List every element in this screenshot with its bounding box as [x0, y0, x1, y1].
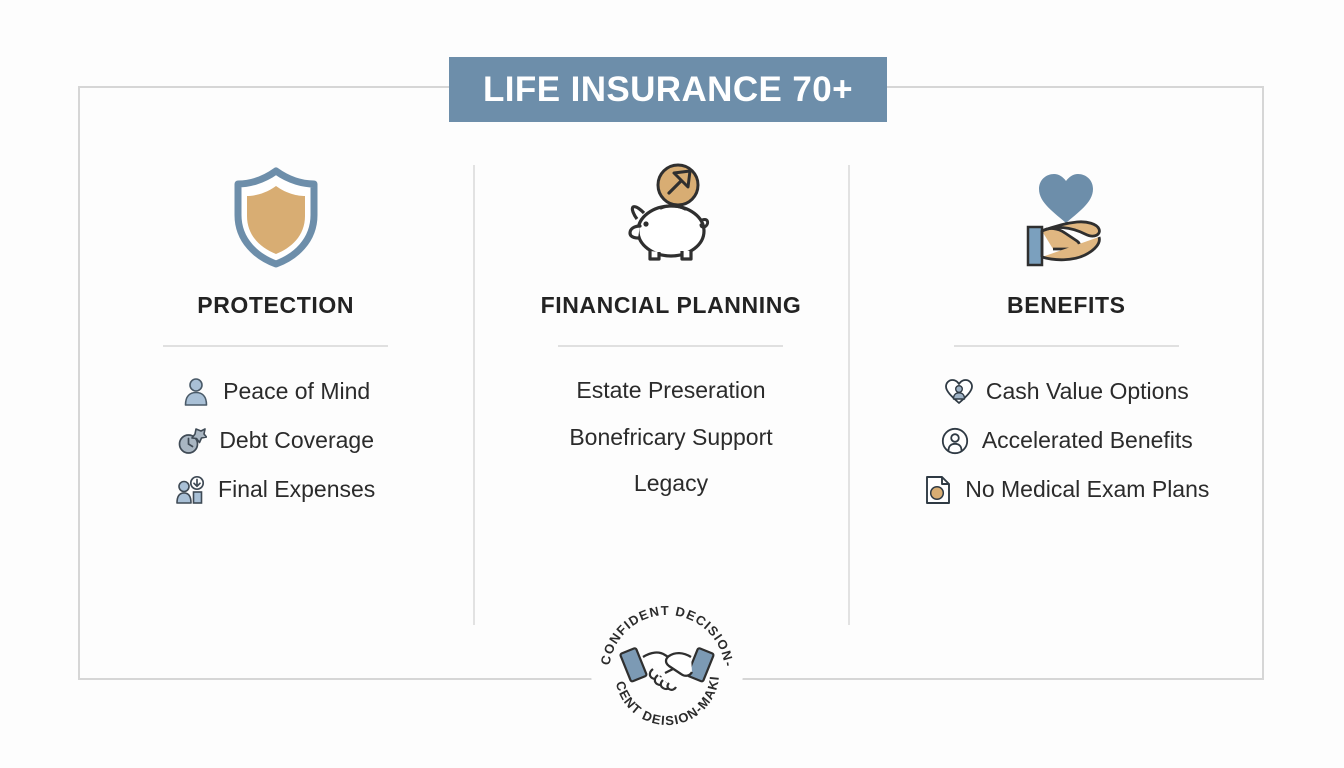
column-heading: BENEFITS: [1007, 292, 1126, 319]
list-item-label: Estate Preseration: [576, 377, 765, 405]
list-item: Cash Value Options: [944, 377, 1189, 407]
columns-container: PROTECTION Peace of Mind: [78, 150, 1264, 620]
user-circle-icon: [940, 426, 970, 456]
list-item: No Medical Exam Plans: [923, 475, 1209, 505]
column-heading: PROTECTION: [197, 292, 354, 319]
title-banner: LIFE INSURANCE 70+: [449, 57, 887, 122]
confidence-seal: CONFIDENT DECISION-MGNIKAM CENT DEISION-…: [591, 595, 743, 747]
feature-list: Cash Value Options Accelerated Benefits: [869, 377, 1264, 505]
person-icon: [181, 377, 211, 407]
clock-badge-icon: [177, 426, 207, 456]
list-item: Accelerated Benefits: [940, 426, 1193, 456]
list-item-label: Peace of Mind: [223, 378, 370, 406]
list-item-label: Bonefricary Support: [569, 424, 772, 452]
person-download-icon: [176, 475, 206, 505]
heading-rule: [954, 345, 1179, 347]
list-item: Estate Preseration: [576, 377, 765, 405]
list-item: Bonefricary Support: [569, 424, 772, 452]
list-item-label: Debt Coverage: [219, 427, 374, 455]
document-circle-icon: [923, 475, 953, 505]
shield-icon: [230, 162, 322, 272]
heading-rule: [558, 345, 783, 347]
list-item: Debt Coverage: [177, 426, 374, 456]
list-item-label: No Medical Exam Plans: [965, 476, 1209, 504]
infographic-poster: LIFE INSURANCE 70+ PROTECTION: [0, 0, 1344, 768]
list-item-label: Final Expenses: [218, 476, 375, 504]
page-title: LIFE INSURANCE 70+: [483, 70, 853, 110]
list-item: Legacy: [634, 470, 708, 498]
list-item-label: Legacy: [634, 470, 708, 498]
column-benefits: BENEFITS Cash Value Options: [869, 150, 1264, 620]
heading-rule: [163, 345, 388, 347]
column-financial-planning: FINANCIAL PLANNING Estate Preseration Bo…: [473, 150, 868, 620]
feature-list: Estate Preseration Bonefricary Support L…: [473, 377, 868, 498]
list-item: Peace of Mind: [181, 377, 370, 407]
heart-person-icon: [944, 377, 974, 407]
column-protection: PROTECTION Peace of Mind: [78, 150, 473, 620]
list-item-label: Accelerated Benefits: [982, 427, 1193, 455]
heart-in-hand-icon: [1011, 162, 1121, 272]
column-heading: FINANCIAL PLANNING: [541, 292, 802, 319]
feature-list: Peace of Mind Debt Coverage: [78, 377, 473, 505]
list-item-label: Cash Value Options: [986, 378, 1189, 406]
list-item: Final Expenses: [176, 475, 375, 505]
piggy-bank-icon: [616, 162, 726, 272]
